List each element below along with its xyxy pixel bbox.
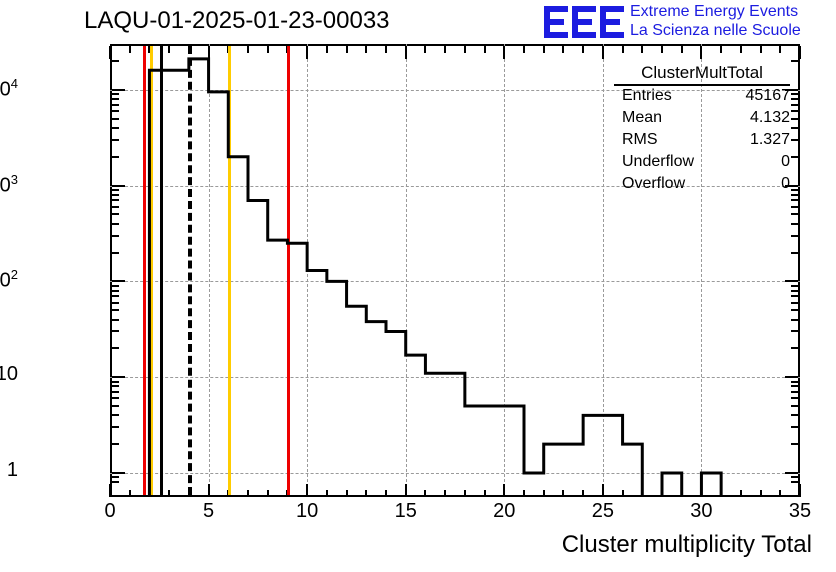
axis-tick: [791, 397, 798, 399]
axis-tick: [641, 46, 643, 53]
axis-tick: [112, 89, 125, 91]
gridline-v-3: [504, 44, 505, 497]
x-axis-title: Cluster multiplicity Total: [0, 531, 812, 559]
axis-tick: [247, 490, 249, 497]
axis-tick: [740, 490, 742, 497]
axis-tick: [484, 490, 486, 497]
axis-tick: [444, 46, 446, 53]
axis-tick: [365, 490, 367, 497]
axis-tick: [405, 484, 407, 497]
axis-tick: [760, 46, 762, 53]
axis-tick: [112, 376, 125, 378]
axis-tick: [365, 46, 367, 53]
axis-tick: [112, 93, 119, 95]
axis-tick: [791, 309, 798, 311]
axis-tick: [112, 476, 119, 478]
axis-tick: [622, 490, 624, 497]
axis-tick: [464, 490, 466, 497]
axis-tick: [112, 426, 119, 428]
axis-tick: [681, 46, 683, 53]
axis-tick: [791, 385, 798, 387]
axis-tick: [112, 330, 119, 332]
axis-tick: [791, 481, 798, 483]
axis-tick: [791, 290, 798, 292]
axis-tick: [385, 490, 387, 497]
stats-value: 45167: [746, 87, 791, 105]
axis-tick: [112, 405, 119, 407]
axis-tick: [112, 285, 119, 287]
stats-row: Mean4.132: [614, 109, 790, 131]
marker-line-red-high: [287, 46, 290, 495]
axis-tick: [326, 490, 328, 497]
axis-tick: [112, 199, 119, 201]
axis-tick: [129, 46, 131, 53]
axis-tick: [791, 405, 798, 407]
axis-tick: [791, 285, 798, 287]
axis-tick: [109, 46, 111, 59]
axis-tick: [112, 280, 125, 282]
axis-tick: [112, 481, 119, 483]
plot-canvas: LAQU-01-2025-01-23-00033: [0, 0, 836, 572]
axis-tick: [791, 426, 798, 428]
stats-row: Overflow0: [614, 175, 790, 197]
axis-tick: [112, 381, 119, 383]
y-tick-label-2: 102: [0, 267, 18, 293]
stats-key: Mean: [622, 109, 662, 127]
axis-tick: [247, 46, 249, 53]
axis-tick: [791, 213, 798, 215]
marker-line-yellow-high: [228, 46, 231, 495]
gridline-h-1: [110, 377, 800, 378]
stats-value: 1.327: [750, 131, 790, 149]
axis-tick: [112, 194, 119, 196]
y-tick-label-3: 103: [0, 172, 18, 198]
stats-box-title: ClusterMultTotal: [614, 63, 790, 86]
axis-tick: [791, 235, 798, 237]
axis-tick: [791, 295, 798, 297]
axis-tick: [267, 46, 269, 53]
x-tick-label-20: 20: [493, 500, 515, 523]
axis-tick: [112, 213, 119, 215]
stats-key: Entries: [622, 87, 672, 105]
axis-tick: [791, 302, 798, 304]
axis-tick: [602, 484, 604, 497]
axis-tick: [112, 189, 119, 191]
axis-tick: [562, 490, 564, 497]
axis-tick: [112, 414, 119, 416]
axis-tick: [503, 484, 505, 497]
axis-tick: [720, 46, 722, 53]
axis-tick: [112, 139, 119, 141]
x-tick-label-15: 15: [395, 500, 417, 523]
axis-tick: [799, 484, 801, 497]
axis-tick: [791, 319, 798, 321]
axis-tick: [700, 484, 702, 497]
axis-tick: [681, 490, 683, 497]
y-tick-label-1: 10: [0, 363, 18, 386]
axis-tick: [720, 490, 722, 497]
axis-tick: [799, 46, 801, 59]
axis-tick: [424, 490, 426, 497]
axis-tick: [112, 235, 119, 237]
axis-tick: [112, 118, 119, 120]
axis-tick: [503, 46, 505, 59]
axis-tick: [112, 347, 119, 349]
axis-tick: [779, 490, 781, 497]
stats-value: 0: [781, 175, 790, 193]
axis-tick: [208, 484, 210, 497]
axis-tick: [112, 397, 119, 399]
gridline-v-2: [406, 44, 407, 497]
axis-tick: [740, 46, 742, 53]
axis-tick: [791, 347, 798, 349]
eee-logo: Extreme Energy Events La Scienza nelle S…: [544, 3, 834, 43]
marker-line-red-low: [143, 46, 146, 495]
axis-tick: [112, 309, 119, 311]
axis-tick: [582, 46, 584, 53]
axis-tick: [523, 46, 525, 53]
axis-tick: [785, 472, 798, 474]
eee-logo-line2: La Scienza nelle Scuole: [630, 22, 801, 40]
axis-tick: [112, 104, 119, 106]
axis-tick: [112, 185, 125, 187]
axis-tick: [791, 414, 798, 416]
axis-tick: [791, 330, 798, 332]
marker-line-yellow-low: [150, 46, 153, 495]
axis-tick: [700, 46, 702, 59]
x-tick-label-0: 0: [104, 500, 115, 523]
axis-tick: [661, 46, 663, 53]
stats-row: RMS1.327: [614, 131, 790, 153]
axis-tick: [791, 476, 798, 478]
axis-tick: [791, 443, 798, 445]
axis-tick: [346, 490, 348, 497]
stats-box: ClusterMultTotal Entries45167Mean4.132RM…: [614, 63, 802, 209]
axis-tick: [785, 280, 798, 282]
gridline-v-0: [209, 44, 210, 497]
axis-tick: [129, 490, 131, 497]
axis-tick: [168, 46, 170, 53]
gridline-v-1: [307, 44, 308, 497]
axis-tick: [326, 46, 328, 53]
axis-tick: [582, 490, 584, 497]
gridline-h-2: [110, 281, 800, 282]
stats-value: 4.132: [750, 109, 790, 127]
axis-tick: [641, 490, 643, 497]
axis-tick: [112, 290, 119, 292]
axis-tick: [112, 98, 119, 100]
stats-row: Entries45167: [614, 87, 790, 109]
marker-line-black-mean: [188, 46, 192, 495]
axis-tick: [791, 381, 798, 383]
axis-tick: [424, 46, 426, 53]
x-tick-label-5: 5: [203, 500, 214, 523]
gridline-v-4: [603, 44, 604, 497]
axis-tick: [112, 302, 119, 304]
axis-tick: [791, 223, 798, 225]
gridline-h-0: [110, 473, 800, 474]
y-tick-label-4: 104: [0, 76, 18, 102]
axis-tick: [791, 391, 798, 393]
axis-tick: [112, 127, 119, 129]
axis-tick: [444, 490, 446, 497]
stats-value: 0: [781, 153, 790, 171]
axis-tick: [109, 484, 111, 497]
axis-tick: [112, 223, 119, 225]
axis-tick: [112, 252, 119, 254]
axis-tick: [112, 472, 125, 474]
axis-tick: [523, 490, 525, 497]
axis-tick: [791, 252, 798, 254]
axis-tick: [385, 46, 387, 53]
axis-tick: [622, 46, 624, 53]
axis-tick: [306, 484, 308, 497]
stats-key: RMS: [622, 131, 658, 149]
stats-row: Underflow0: [614, 153, 790, 175]
axis-tick: [306, 46, 308, 59]
axis-tick: [112, 295, 119, 297]
x-tick-label-30: 30: [690, 500, 712, 523]
axis-tick: [112, 206, 119, 208]
axis-tick: [602, 46, 604, 59]
eee-logo-icon: [544, 4, 626, 40]
eee-logo-line1: Extreme Energy Events: [630, 3, 798, 21]
page-title: LAQU-01-2025-01-23-00033: [84, 7, 390, 35]
stats-key: Underflow: [622, 153, 694, 171]
axis-tick: [543, 490, 545, 497]
axis-tick: [267, 490, 269, 497]
axis-tick: [791, 60, 798, 62]
axis-tick: [484, 46, 486, 53]
stats-key: Overflow: [622, 175, 685, 193]
axis-tick: [112, 443, 119, 445]
axis-tick: [112, 156, 119, 158]
axis-tick: [208, 46, 210, 59]
axis-tick: [543, 46, 545, 53]
axis-tick: [168, 490, 170, 497]
axis-tick: [112, 385, 119, 387]
marker-line-black-low: [160, 46, 163, 495]
axis-tick: [112, 60, 119, 62]
x-tick-label-10: 10: [296, 500, 318, 523]
axis-tick: [464, 46, 466, 53]
axis-tick: [760, 490, 762, 497]
x-tick-label-25: 25: [592, 500, 614, 523]
axis-tick: [661, 490, 663, 497]
x-tick-label-35: 35: [789, 500, 811, 523]
axis-tick: [112, 110, 119, 112]
axis-tick: [779, 46, 781, 53]
axis-tick: [346, 46, 348, 53]
axis-tick: [785, 376, 798, 378]
y-tick-label-0: 1: [7, 459, 18, 482]
axis-tick: [405, 46, 407, 59]
axis-tick: [562, 46, 564, 53]
axis-tick: [112, 391, 119, 393]
axis-tick: [112, 319, 119, 321]
